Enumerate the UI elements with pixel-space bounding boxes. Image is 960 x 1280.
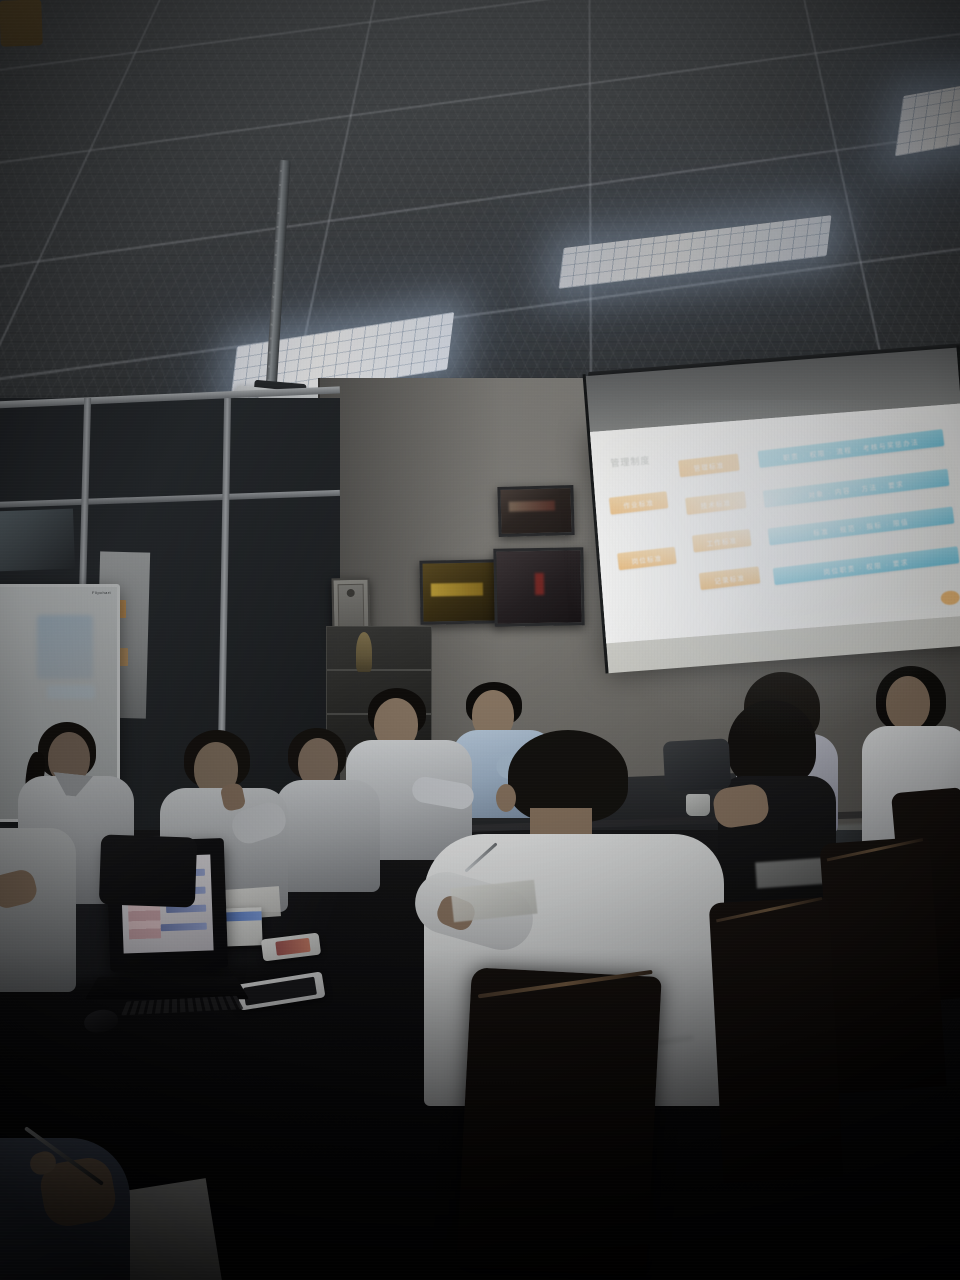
chair — [99, 834, 197, 907]
whiteboard-writing — [47, 685, 95, 699]
glass-reflection — [0, 509, 75, 572]
slide-orange-box: 岗位标准 — [617, 547, 677, 571]
slide-orange-box: 工作标准 — [692, 529, 752, 553]
person-left-edge — [0, 788, 80, 988]
slide-blue-box: 岗位职责 · 权限 · 要求 — [773, 546, 960, 585]
certificate-seal — [347, 589, 355, 597]
frame-photo-content — [535, 573, 544, 595]
chair-amber-cushion — [0, 0, 43, 47]
paper-sheet — [755, 858, 829, 889]
slide-title: 管理制度 — [610, 453, 651, 469]
chair — [819, 836, 946, 1093]
person-left-woman-third — [276, 728, 380, 888]
chair — [709, 897, 843, 1183]
laptop-screen-text-row — [161, 923, 207, 932]
slide-blue-box: 对象 · 内容 · 方法 · 要求 — [763, 469, 950, 508]
slide-orange-box: 记录标准 — [699, 566, 761, 590]
torso — [0, 828, 76, 992]
cabinet-shelf — [327, 669, 431, 671]
slide-orange-box: 技术标准 — [685, 491, 747, 515]
ear — [496, 784, 516, 812]
decorative-statue — [356, 632, 372, 672]
projected-slide: 管理制度 管理标准 作业标准 技术标准 工作标准 岗位标准 记录标准 职责 · … — [590, 403, 960, 643]
wall-photo-frame — [497, 485, 574, 537]
chair-top-rail — [827, 838, 923, 861]
wall-certificate-plaque — [419, 559, 501, 624]
slide-orange-box: 作业标准 — [609, 491, 669, 515]
chair — [663, 738, 732, 791]
partition-frame — [0, 490, 340, 508]
slide-blue-box: 职责 · 权限 · 流程 · 考核与奖惩办法 — [758, 429, 945, 468]
chair — [456, 967, 661, 1277]
frame-photo-content — [509, 501, 555, 512]
whiteboard-brand-label: Flipchart — [92, 590, 111, 595]
head — [886, 676, 930, 730]
slide-orange-marker — [940, 590, 960, 605]
whiteboard-writing — [37, 615, 93, 679]
meeting-room-photo: Flipchart 管理制度 管理标准 作业标准 技术 — [0, 0, 960, 1280]
certificate-text — [431, 583, 483, 597]
projection-screen: 管理制度 管理标准 作业标准 技术标准 工作标准 岗位标准 记录标准 职责 · … — [586, 372, 960, 702]
person-bottom-left-note-taker — [0, 1108, 210, 1280]
torso — [276, 780, 380, 892]
wall-dark-frame — [493, 547, 584, 627]
phone-screen — [275, 938, 310, 956]
slide-blue-box: 标准 · 规范 · 指标 · 限值 — [768, 507, 955, 546]
chair-top-rail — [478, 970, 653, 998]
slide-orange-box: 管理标准 — [678, 454, 740, 478]
hair — [728, 700, 816, 786]
screen-surface: 管理制度 管理标准 作业标准 技术标准 工作标准 岗位标准 记录标准 职责 · … — [590, 403, 960, 673]
